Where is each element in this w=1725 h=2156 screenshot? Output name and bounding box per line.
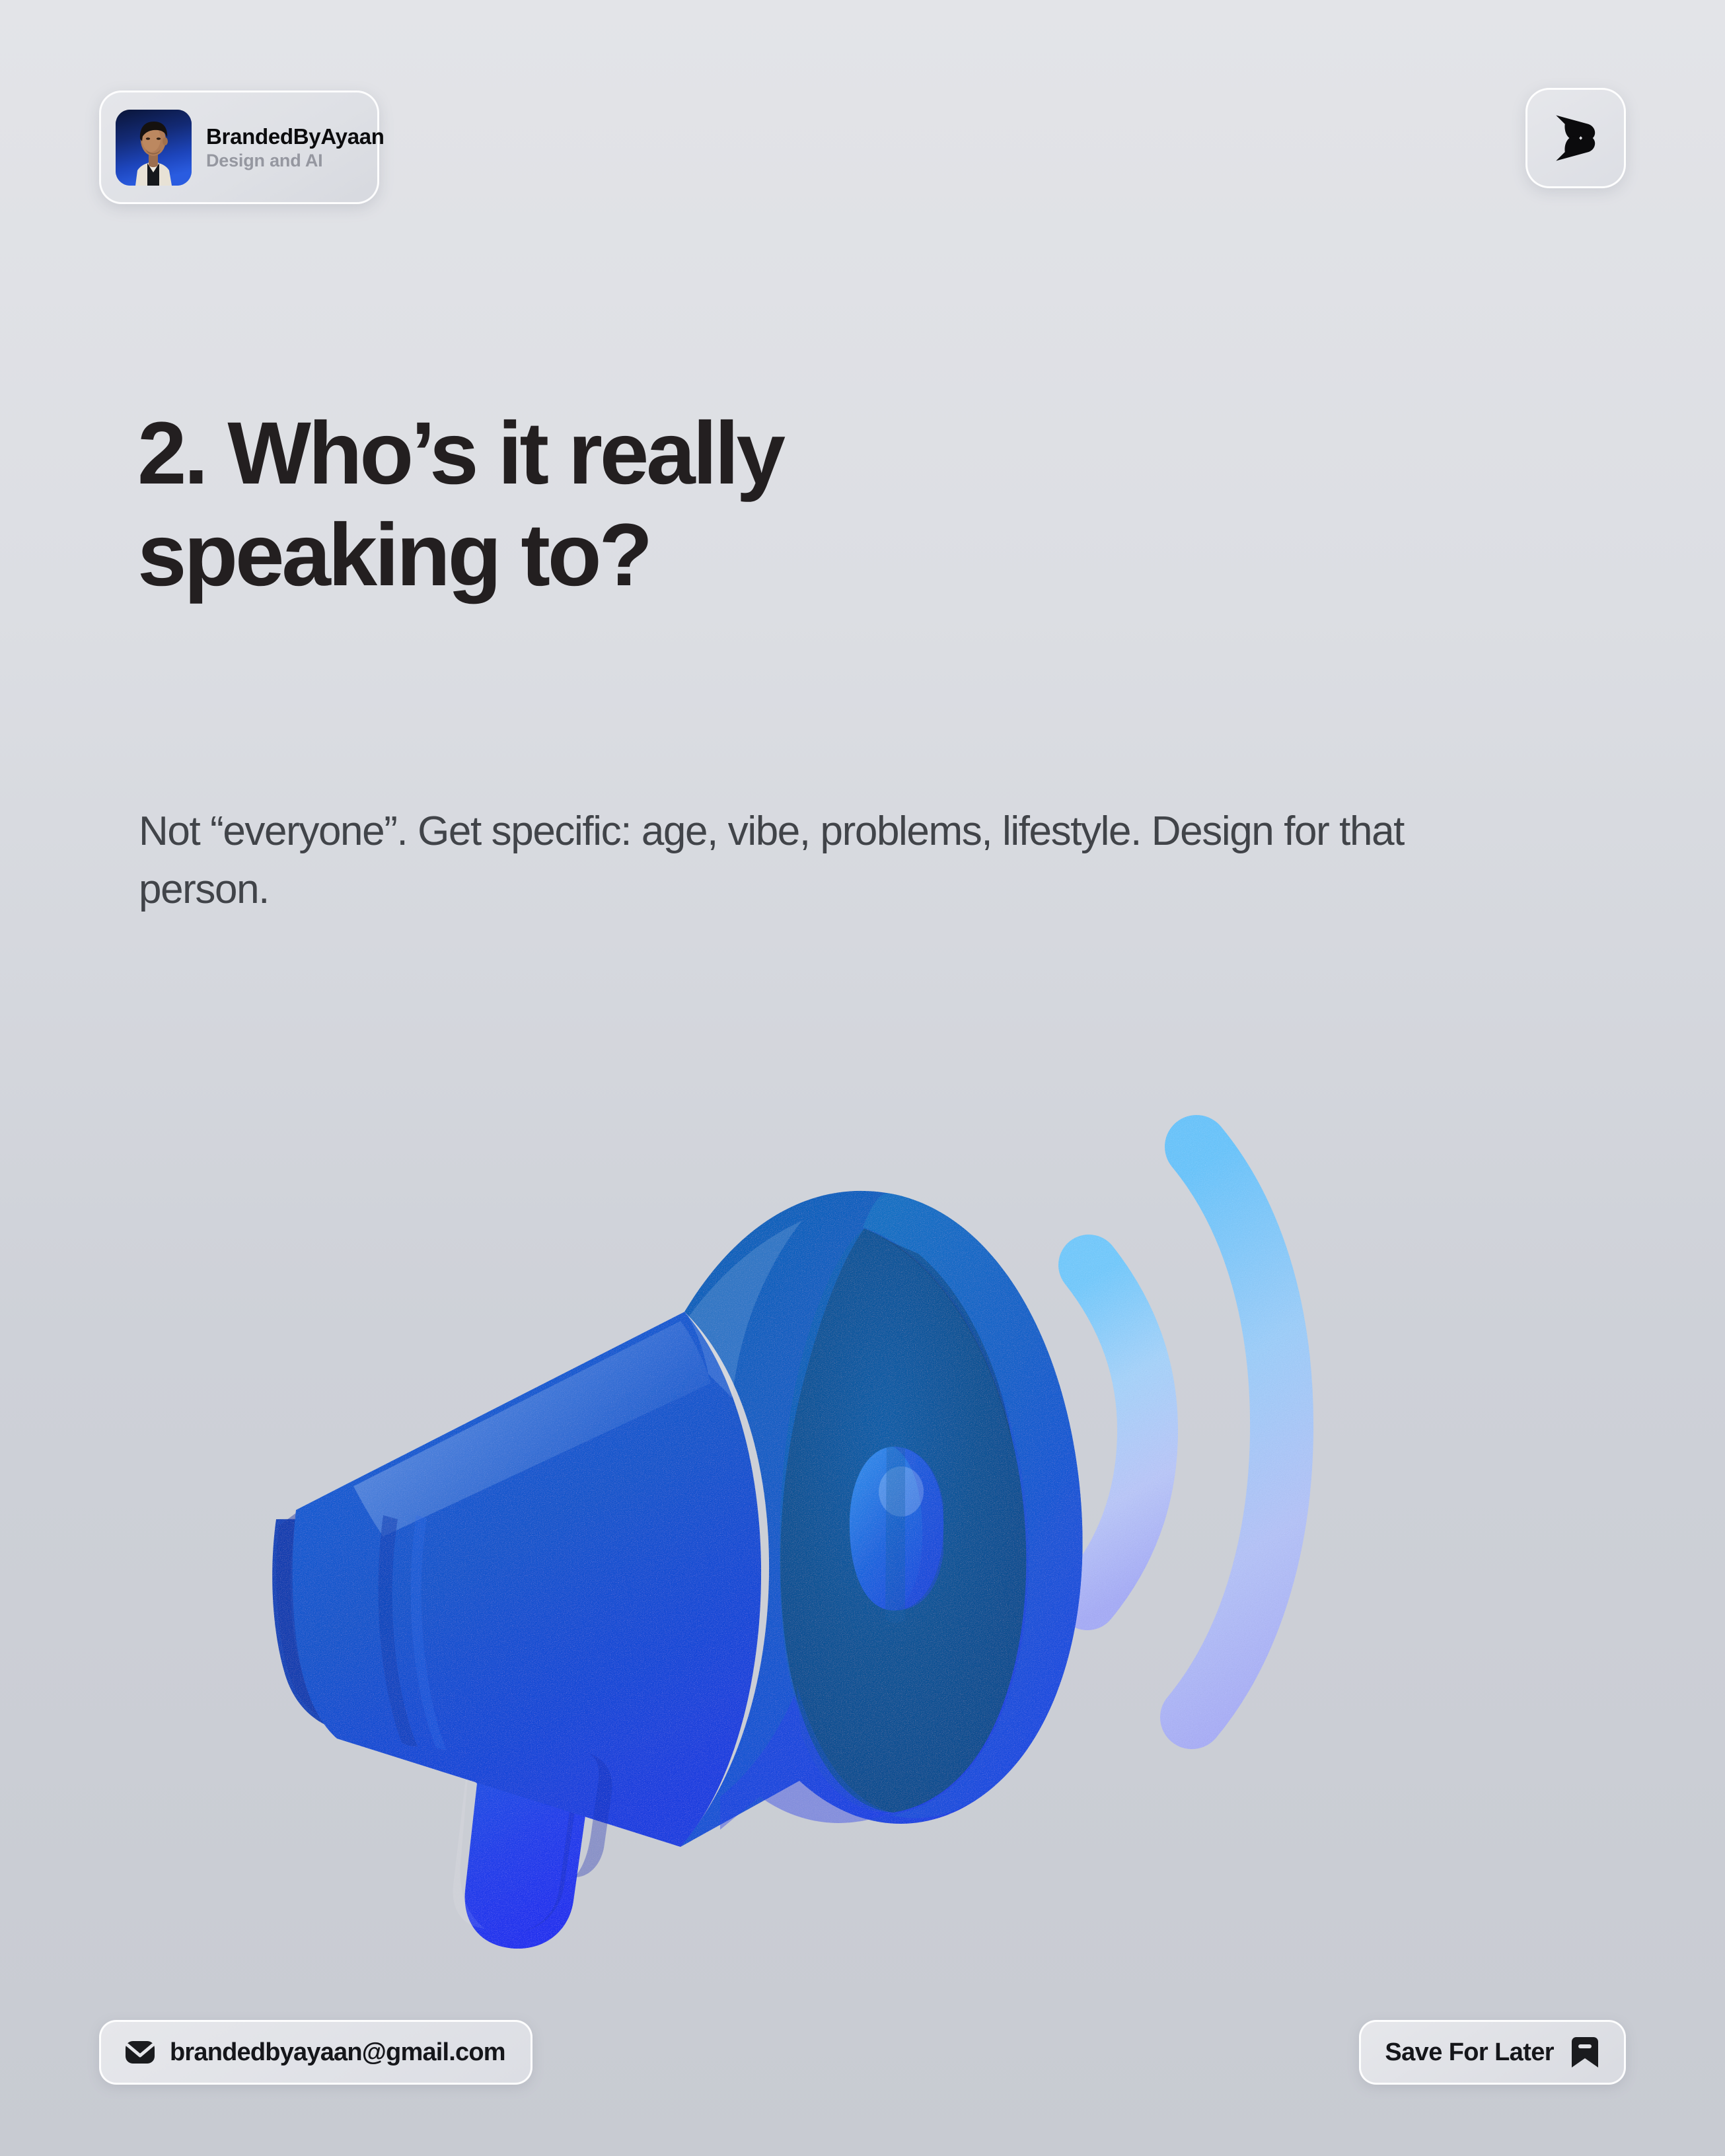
profile-text-group: BrandedByAyaan Design and AI <box>206 124 385 171</box>
megaphone-3d-icon <box>218 1063 1440 1949</box>
avatar <box>116 110 192 186</box>
profile-subtitle: Design and AI <box>206 151 385 171</box>
email-pill[interactable]: brandedbyayaan@gmail.com <box>99 2020 532 2085</box>
page-subtitle: Not “everyone”. Get specific: age, vibe,… <box>139 803 1526 919</box>
email-address: brandedbyayaan@gmail.com <box>170 2038 505 2067</box>
headline-line-2: speaking to? <box>137 511 1327 600</box>
page-title: 2. Who’s it really speaking to? <box>137 410 1327 600</box>
brand-b-logo-icon <box>1544 106 1607 170</box>
sound-wave-outer <box>1192 1147 1282 1717</box>
save-for-later-button[interactable]: Save For Later <box>1359 2020 1626 2085</box>
profile-card[interactable]: BrandedByAyaan Design and AI <box>99 90 379 204</box>
profile-name: BrandedByAyaan <box>206 124 385 149</box>
envelope-icon <box>124 2036 157 2069</box>
save-button-label: Save For Later <box>1385 2038 1554 2067</box>
headline-line-1: 2. Who’s it really <box>137 404 783 503</box>
bookmark-icon <box>1570 2036 1600 2069</box>
brand-logo-badge[interactable] <box>1525 88 1626 188</box>
sound-wave-inner <box>1087 1265 1148 1600</box>
